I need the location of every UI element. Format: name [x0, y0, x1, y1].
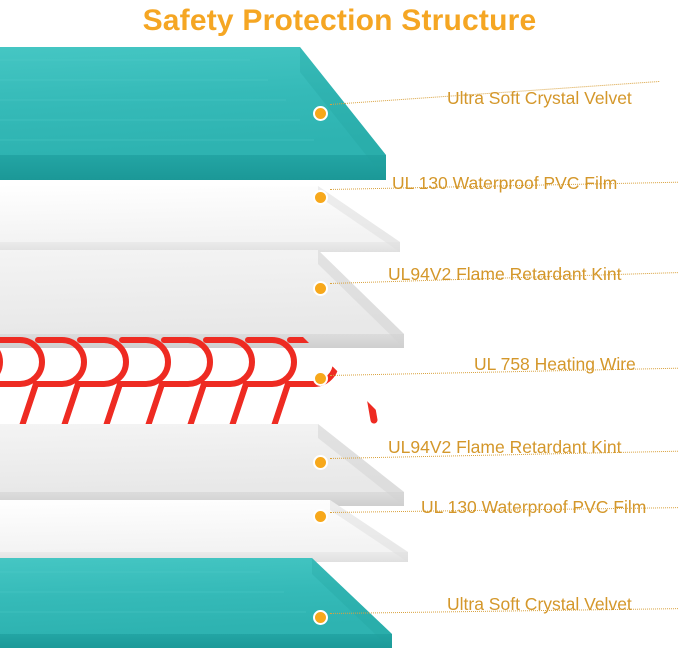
layer-velvet-top: [0, 47, 386, 180]
label-velvet-bottom: Ultra Soft Crystal Velvet: [447, 594, 632, 614]
callout-dot-velvet-top: [313, 106, 328, 121]
callout-dot-pvc-bottom: [313, 509, 328, 524]
callout-dot-knit-bottom: [313, 455, 328, 470]
callout-dot-velvet-bottom: [313, 610, 328, 625]
label-knit-bottom: UL94V2 Flame Retardant Kint: [388, 437, 621, 457]
label-pvc-bottom: UL 130 Waterproof PVC Film: [421, 497, 646, 517]
callout-dot-heating-wire: [313, 371, 328, 386]
label-velvet-top: Ultra Soft Crystal Velvet: [447, 88, 632, 108]
safety-structure-diagram: Safety Protection Structure: [0, 0, 679, 648]
layer-knit-top: [0, 250, 404, 348]
label-heating-wire: UL 758 Heating Wire: [474, 354, 636, 374]
layer-pvc-top: [0, 186, 400, 252]
layer-velvet-bottom: [0, 558, 392, 648]
layer-pvc-bottom: [0, 500, 408, 562]
label-knit-top: UL94V2 Flame Retardant Kint: [388, 264, 621, 284]
label-pvc-top: UL 130 Waterproof PVC Film: [392, 173, 617, 193]
callout-dot-knit-top: [313, 281, 328, 296]
callout-dot-pvc-top: [313, 190, 328, 205]
layer-knit-bottom: [0, 424, 404, 506]
